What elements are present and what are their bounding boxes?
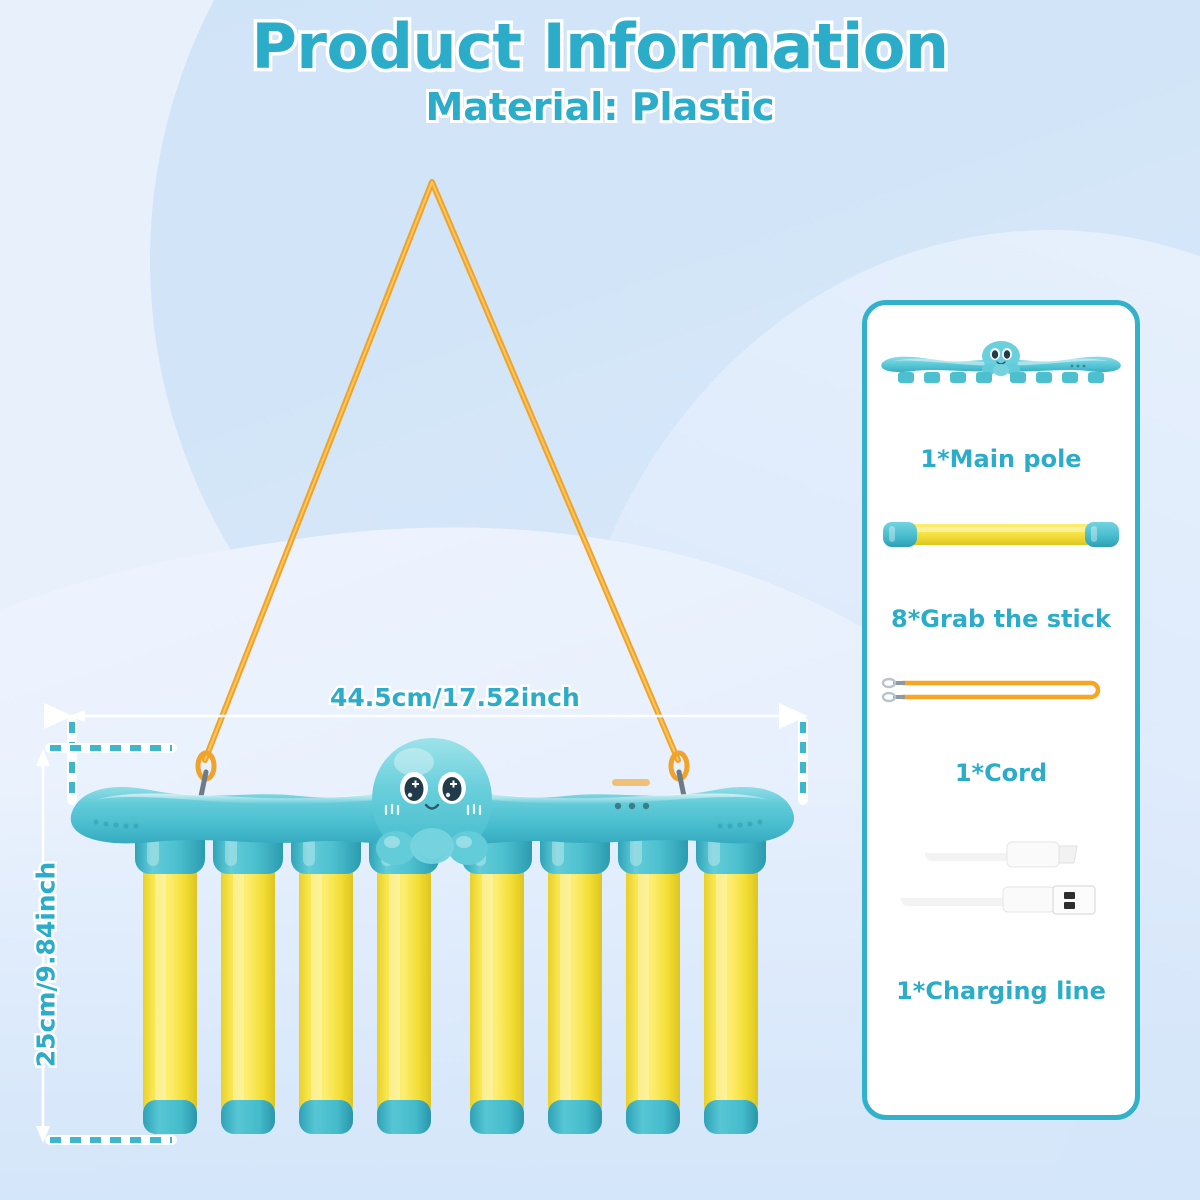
parts-item-label: 8*Grab the stick xyxy=(891,605,1111,633)
grab-stick-icon xyxy=(867,517,1135,551)
parts-item-label: 1*Charging line xyxy=(896,977,1106,1005)
parts-item-label: 1*Cord xyxy=(955,759,1047,787)
product-information-infographic: Product Information Material: Plastic xyxy=(0,0,1200,1200)
material-subtitle: Material: Plastic xyxy=(0,85,1200,129)
width-dimension-label: 44.5cm/17.52inch xyxy=(330,683,580,712)
parts-item-main-pole: 1*Main pole xyxy=(867,339,1135,473)
parts-item-grab-stick: 8*Grab the stick xyxy=(867,517,1135,633)
main-pole-icon xyxy=(867,339,1135,391)
header-block: Product Information Material: Plastic xyxy=(0,14,1200,129)
parts-item-label: 1*Main pole xyxy=(920,445,1081,473)
height-dimension-label: 25cm/9.84inch xyxy=(32,855,61,1075)
parts-item-cord: 1*Cord xyxy=(867,673,1135,787)
parts-item-charging-line: 1*Charging line xyxy=(867,831,1135,1005)
cord-icon xyxy=(867,673,1135,707)
width-dimension-line xyxy=(70,710,805,800)
charging-line-icon xyxy=(867,831,1135,927)
page-title: Product Information xyxy=(0,14,1200,81)
parts-list-panel: 1*Main pole xyxy=(862,300,1140,1120)
